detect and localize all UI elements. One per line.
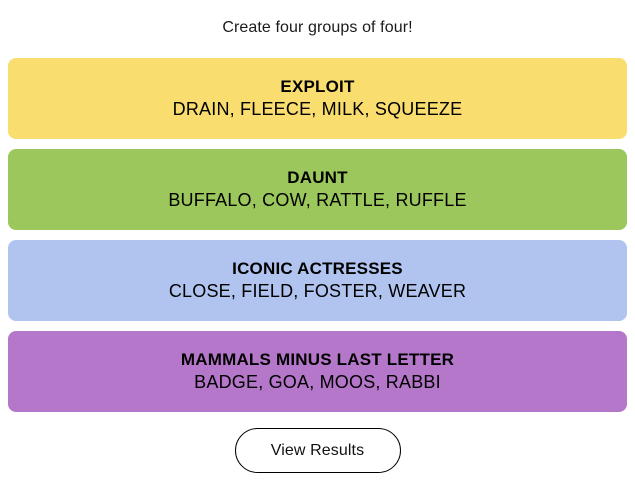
puzzle-prompt: Create four groups of four!	[0, 0, 635, 38]
group-title: ICONIC ACTRESSES	[232, 258, 403, 280]
group-card-purple: MAMMALS MINUS LAST LETTER BADGE, GOA, MO…	[8, 331, 627, 412]
group-members: BADGE, GOA, MOOS, RABBI	[194, 371, 441, 394]
connections-results-page: Create four groups of four! EXPLOIT DRAI…	[0, 0, 635, 481]
group-card-green: DAUNT BUFFALO, COW, RATTLE, RUFFLE	[8, 149, 627, 230]
group-members: DRAIN, FLEECE, MILK, SQUEEZE	[173, 98, 463, 121]
group-title: DAUNT	[287, 167, 348, 189]
group-card-yellow: EXPLOIT DRAIN, FLEECE, MILK, SQUEEZE	[8, 58, 627, 139]
group-title: MAMMALS MINUS LAST LETTER	[181, 349, 454, 371]
view-results-button[interactable]: View Results	[235, 428, 401, 473]
group-title: EXPLOIT	[280, 76, 354, 98]
group-members: CLOSE, FIELD, FOSTER, WEAVER	[169, 280, 466, 303]
group-card-blue: ICONIC ACTRESSES CLOSE, FIELD, FOSTER, W…	[8, 240, 627, 321]
solved-groups-list: EXPLOIT DRAIN, FLEECE, MILK, SQUEEZE DAU…	[8, 58, 627, 412]
group-members: BUFFALO, COW, RATTLE, RUFFLE	[168, 189, 466, 212]
footer-actions: View Results	[0, 428, 635, 473]
